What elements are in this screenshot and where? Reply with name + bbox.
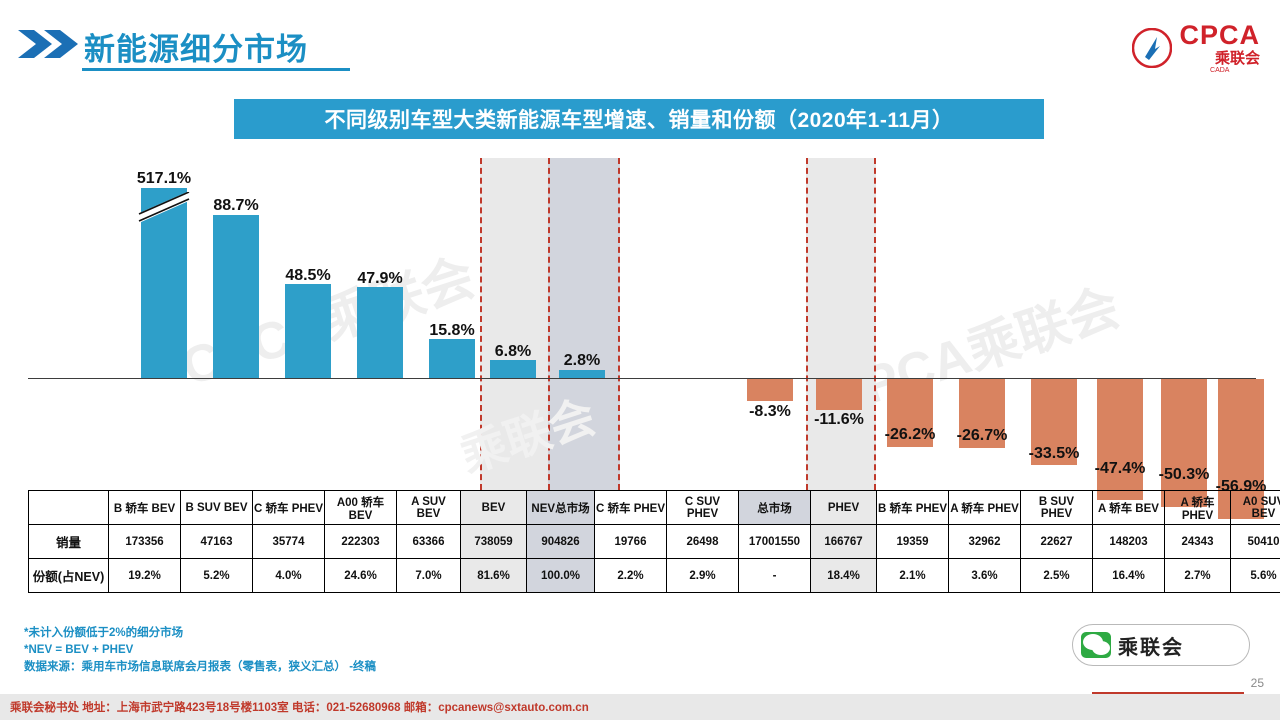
footnote-3: 数据来源：乘用车市场信息联席会月报表（零售表，狭义汇总） -终稿 bbox=[24, 659, 376, 676]
cell-share: 100.0% bbox=[527, 559, 595, 593]
cell-sales: 173356 bbox=[109, 525, 181, 559]
bar-column: -26.7% bbox=[946, 150, 1018, 490]
cell-share: 4.0% bbox=[253, 559, 325, 593]
bar-column: 6.8% bbox=[480, 150, 546, 490]
table-row: 销量 173356 47163 35774 222303 63366 73805… bbox=[29, 525, 1280, 559]
row-header: 份额(占NEV) bbox=[29, 559, 109, 593]
bar-column: 88.7% bbox=[200, 150, 272, 490]
col-header: C 轿车 PHEV bbox=[253, 491, 325, 525]
bar-value-label: 15.8% bbox=[429, 322, 474, 340]
col-header: 总市场 bbox=[739, 491, 811, 525]
double-chevron-icon bbox=[18, 30, 80, 58]
cell-share: 2.5% bbox=[1021, 559, 1093, 593]
table-row: 份额(占NEV) 19.2% 5.2% 4.0% 24.6% 7.0% 81.6… bbox=[29, 559, 1280, 593]
cell-sales: 50410 bbox=[1231, 525, 1280, 559]
wechat-badge: 乘联会 bbox=[1072, 624, 1250, 666]
cell-sales: 32962 bbox=[949, 525, 1021, 559]
cell-sales: 904826 bbox=[527, 525, 595, 559]
cell-share: 16.4% bbox=[1093, 559, 1165, 593]
cell-sales: 63366 bbox=[397, 525, 461, 559]
col-header: B SUV PHEV bbox=[1021, 491, 1093, 525]
bar-column: -47.4% bbox=[1084, 150, 1156, 490]
bar-column: -56.9% bbox=[1208, 150, 1274, 490]
bar-value-label: 88.7% bbox=[213, 197, 258, 215]
bar-value-label: -33.5% bbox=[1029, 445, 1080, 463]
footer-contact: 乘联会秘书处 地址：上海市武宁路423号18号楼1103室 电话：021-526… bbox=[10, 699, 589, 715]
bar-value-label: -8.3% bbox=[749, 403, 791, 421]
logo-cn-text: 乘联会 bbox=[1179, 51, 1260, 66]
cell-share: 81.6% bbox=[461, 559, 527, 593]
cell-sales: 19766 bbox=[595, 525, 667, 559]
cpca-logo: CPCA 乘联会 CADA bbox=[1132, 22, 1260, 74]
col-header: A00 轿车 BEV bbox=[325, 491, 397, 525]
bar-value-label: -11.6% bbox=[814, 411, 864, 429]
logo-sub-text: CADA bbox=[1179, 67, 1260, 74]
footnotes: *未计入份额低于2%的细分市场 *NEV = BEV + PHEV 数据来源：乘… bbox=[24, 625, 376, 676]
title-underline bbox=[82, 68, 350, 71]
bar-value-label: -26.7% bbox=[957, 427, 1008, 445]
col-header: A SUV BEV bbox=[397, 491, 461, 525]
cell-share: 24.6% bbox=[325, 559, 397, 593]
cell-share: 2.2% bbox=[595, 559, 667, 593]
cell-share: 2.1% bbox=[877, 559, 949, 593]
col-header: BEV bbox=[461, 491, 527, 525]
cell-share: 3.6% bbox=[949, 559, 1021, 593]
col-header: C SUV PHEV bbox=[667, 491, 739, 525]
cell-sales: 166767 bbox=[811, 525, 877, 559]
col-header: A0 SUV BEV bbox=[1231, 491, 1280, 525]
col-header: C 轿车 PHEV bbox=[595, 491, 667, 525]
cell-sales: 19359 bbox=[877, 525, 949, 559]
bar-value-label: 48.5% bbox=[285, 267, 330, 285]
page-footer: 乘联会秘书处 地址：上海市武宁路423号18号楼1103室 电话：021-526… bbox=[0, 694, 1280, 720]
col-header: B SUV BEV bbox=[181, 491, 253, 525]
cell-share: 7.0% bbox=[397, 559, 461, 593]
bar-column: 48.5% bbox=[272, 150, 344, 490]
chart-title-band: 不同级别车型大类新能源车型增速、销量和份额（2020年1-11月） bbox=[234, 99, 1044, 139]
cell-share: 5.2% bbox=[181, 559, 253, 593]
bar-column: 15.8% bbox=[416, 150, 488, 490]
bar-value-label: -47.4% bbox=[1095, 460, 1146, 478]
bar-value-label: 2.8% bbox=[564, 352, 600, 370]
cell-share: 2.9% bbox=[667, 559, 739, 593]
cell-share: 18.4% bbox=[811, 559, 877, 593]
cell-share: - bbox=[739, 559, 811, 593]
bar-value-label: -26.2% bbox=[885, 426, 936, 444]
cell-sales: 148203 bbox=[1093, 525, 1165, 559]
bar-column: -11.6% bbox=[806, 150, 872, 490]
col-header: PHEV bbox=[811, 491, 877, 525]
bar-column: -33.5% bbox=[1018, 150, 1090, 490]
cell-sales: 738059 bbox=[461, 525, 527, 559]
bar-value-label: -50.3% bbox=[1159, 466, 1210, 484]
bar-chart: 乘联会 517.1% 88.7% 48.5% 47.9% 15.8% 6.8% … bbox=[28, 150, 1256, 490]
cell-share: 19.2% bbox=[109, 559, 181, 593]
wechat-label: 乘联会 bbox=[1118, 631, 1184, 660]
footnote-2: *NEV = BEV + PHEV bbox=[24, 642, 376, 659]
cell-share: 5.6% bbox=[1231, 559, 1280, 593]
logo-main-text: CPCA bbox=[1179, 22, 1260, 49]
page-title: 新能源细分市场 bbox=[84, 24, 308, 69]
table-header-row: B 轿车 BEV B SUV BEV C 轿车 PHEV A00 轿车 BEV … bbox=[29, 491, 1280, 525]
footnote-1: *未计入份额低于2%的细分市场 bbox=[24, 625, 376, 642]
col-header: A 轿车 PHEV bbox=[1165, 491, 1231, 525]
col-header: B 轿车 PHEV bbox=[877, 491, 949, 525]
bar-value-label: 517.1% bbox=[137, 170, 191, 188]
col-header: NEV总市场 bbox=[527, 491, 595, 525]
cell-sales: 35774 bbox=[253, 525, 325, 559]
cell-sales: 24343 bbox=[1165, 525, 1231, 559]
cell-share: 2.7% bbox=[1165, 559, 1231, 593]
bar-column: -26.2% bbox=[874, 150, 946, 490]
cell-sales: 47163 bbox=[181, 525, 253, 559]
page-header: 新能源细分市场 CPCA 乘联会 CADA bbox=[0, 0, 1280, 82]
cell-sales: 17001550 bbox=[739, 525, 811, 559]
bar-column: 2.8% bbox=[548, 150, 616, 490]
bar-column-empty bbox=[618, 150, 690, 490]
row-header: 销量 bbox=[29, 525, 109, 559]
bar-column: -8.3% bbox=[734, 150, 806, 490]
cell-sales: 222303 bbox=[325, 525, 397, 559]
bar-value-label: 47.9% bbox=[357, 270, 402, 288]
bar-column: 47.9% bbox=[344, 150, 416, 490]
bar-column: 517.1% bbox=[128, 150, 200, 490]
wechat-icon bbox=[1081, 632, 1111, 658]
cell-sales: 26498 bbox=[667, 525, 739, 559]
data-table: B 轿车 BEV B SUV BEV C 轿车 PHEV A00 轿车 BEV … bbox=[28, 490, 1280, 593]
corner-cell bbox=[29, 491, 109, 525]
col-header: A 轿车 BEV bbox=[1093, 491, 1165, 525]
cpca-mark-icon bbox=[1132, 28, 1172, 68]
cell-sales: 22627 bbox=[1021, 525, 1093, 559]
col-header: A 轿车 PHEV bbox=[949, 491, 1021, 525]
col-header: B 轿车 BEV bbox=[109, 491, 181, 525]
page-number: 25 bbox=[1251, 676, 1264, 690]
bar-value-label: 6.8% bbox=[495, 343, 531, 361]
